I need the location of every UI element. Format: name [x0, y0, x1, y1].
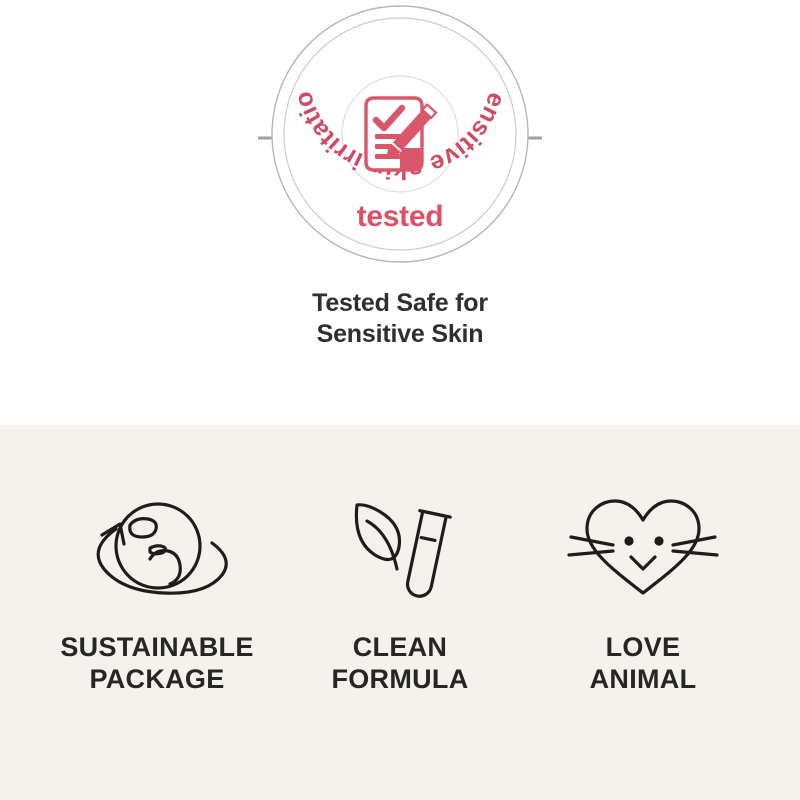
brand-values-section: SUSTAINABLE PACKAGE — [0, 425, 800, 800]
globe-recycle-orbit-icon — [72, 490, 242, 610]
feature-label-line-1: LOVE — [590, 632, 697, 664]
page-title: Tested Safe for Sensitive Skin — [0, 288, 800, 349]
seal-bottom-text: tested — [357, 200, 444, 233]
feature-label-line-2: PACKAGE — [60, 664, 253, 696]
feature-label-love-animal: LOVE ANIMAL — [590, 632, 697, 695]
feature-label-line-1: SUSTAINABLE — [60, 632, 253, 664]
feature-sustainable-package: SUSTAINABLE PACKAGE — [36, 425, 279, 695]
tested-safe-section: Sensitive skin irritation — [0, 0, 800, 425]
page-title-line-1: Tested Safe for — [0, 288, 800, 319]
product-claims-infographic: Sensitive skin irritation — [0, 0, 800, 800]
feature-label-sustainable-package: SUSTAINABLE PACKAGE — [60, 632, 253, 695]
feature-love-animal: LOVE ANIMAL — [522, 425, 765, 695]
feature-label-line-2: FORMULA — [331, 664, 468, 696]
heart-animal-face-icon — [563, 490, 723, 610]
page-title-line-2: Sensitive Skin — [0, 319, 800, 350]
sensitive-skin-irritation-tested-seal: Sensitive skin irritation — [256, 3, 544, 265]
leaf-test-tube-icon — [335, 490, 465, 610]
feature-label-line-2: ANIMAL — [590, 664, 697, 696]
feature-list: SUSTAINABLE PACKAGE — [0, 425, 800, 800]
feature-label-line-1: CLEAN — [331, 632, 468, 664]
feature-label-clean-formula: CLEAN FORMULA — [331, 632, 468, 695]
feature-clean-formula: CLEAN FORMULA — [279, 425, 522, 695]
